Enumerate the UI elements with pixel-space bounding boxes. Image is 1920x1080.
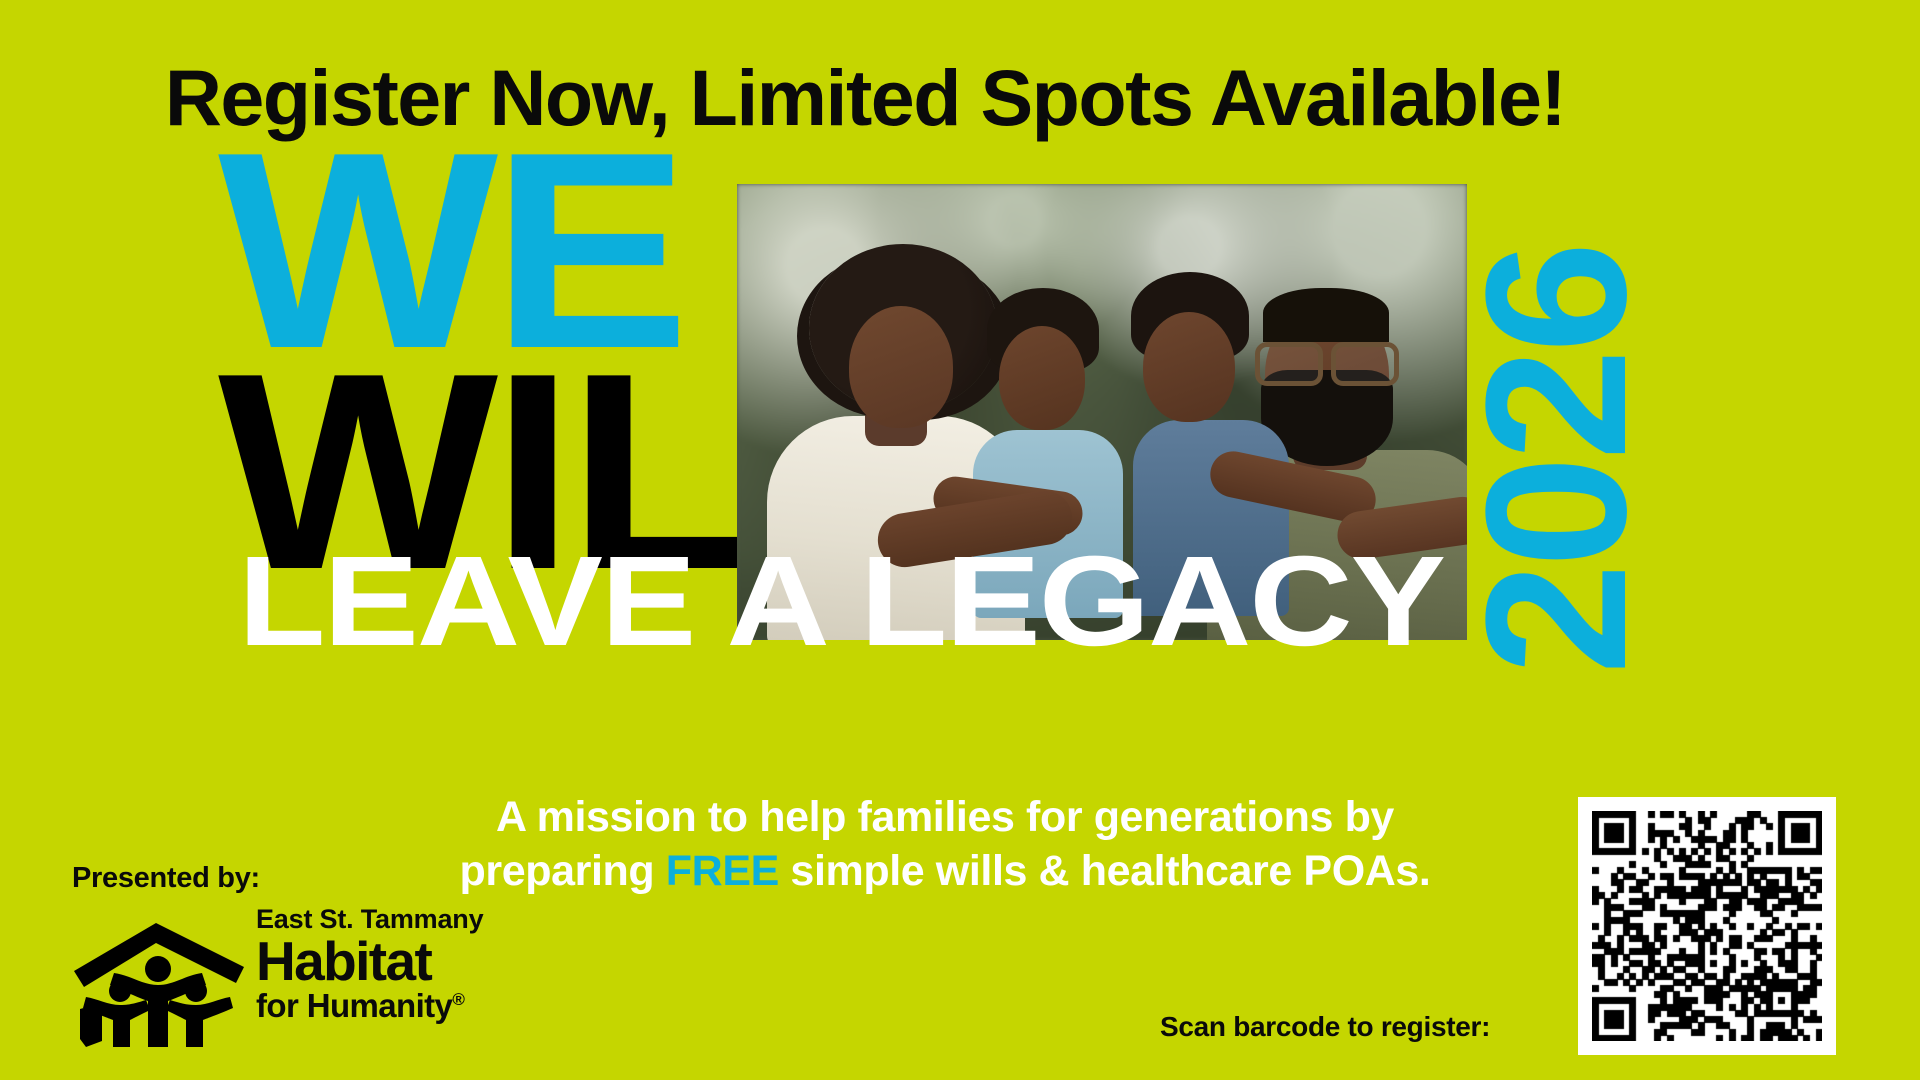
habitat-tagline-text: for Humanity (256, 987, 452, 1024)
eyeglasses-icon (1255, 342, 1399, 376)
subtitle: A mission to help families for generatio… (420, 790, 1470, 898)
habitat-house-people-icon (68, 913, 248, 1049)
habitat-logo-wordmark: East St. Tammany Habitat for Humanity® (256, 905, 506, 1024)
qr-code-icon[interactable] (1592, 811, 1822, 1041)
qr-code-panel[interactable] (1578, 797, 1836, 1055)
habitat-logo: East St. Tammany Habitat for Humanity® (68, 905, 508, 1055)
flyer-canvas: Register Now, Limited Spots Available! W… (0, 0, 1920, 1080)
registered-trademark-icon: ® (452, 990, 464, 1009)
habitat-name: Habitat (256, 933, 506, 989)
photo-child-two-face (1143, 312, 1235, 422)
habitat-affiliate-name: East St. Tammany (256, 905, 506, 933)
subtitle-part-two: simple wills & healthcare POAs. (779, 847, 1431, 895)
headline-word-legacy: LEAVE A LEGACY (238, 538, 1444, 666)
habitat-tagline: for Humanity® (256, 989, 506, 1024)
presented-by-label: Presented by: (72, 862, 260, 895)
photo-man-hair (1263, 288, 1389, 342)
year-label: 2026 (1457, 246, 1657, 675)
subtitle-highlight-free: FREE (666, 847, 779, 895)
scan-instruction-label: Scan barcode to register: (1160, 1011, 1490, 1043)
photo-child-one-face (999, 326, 1085, 430)
year-badge: 2026 (1452, 150, 1662, 770)
photo-woman-face (849, 306, 953, 428)
